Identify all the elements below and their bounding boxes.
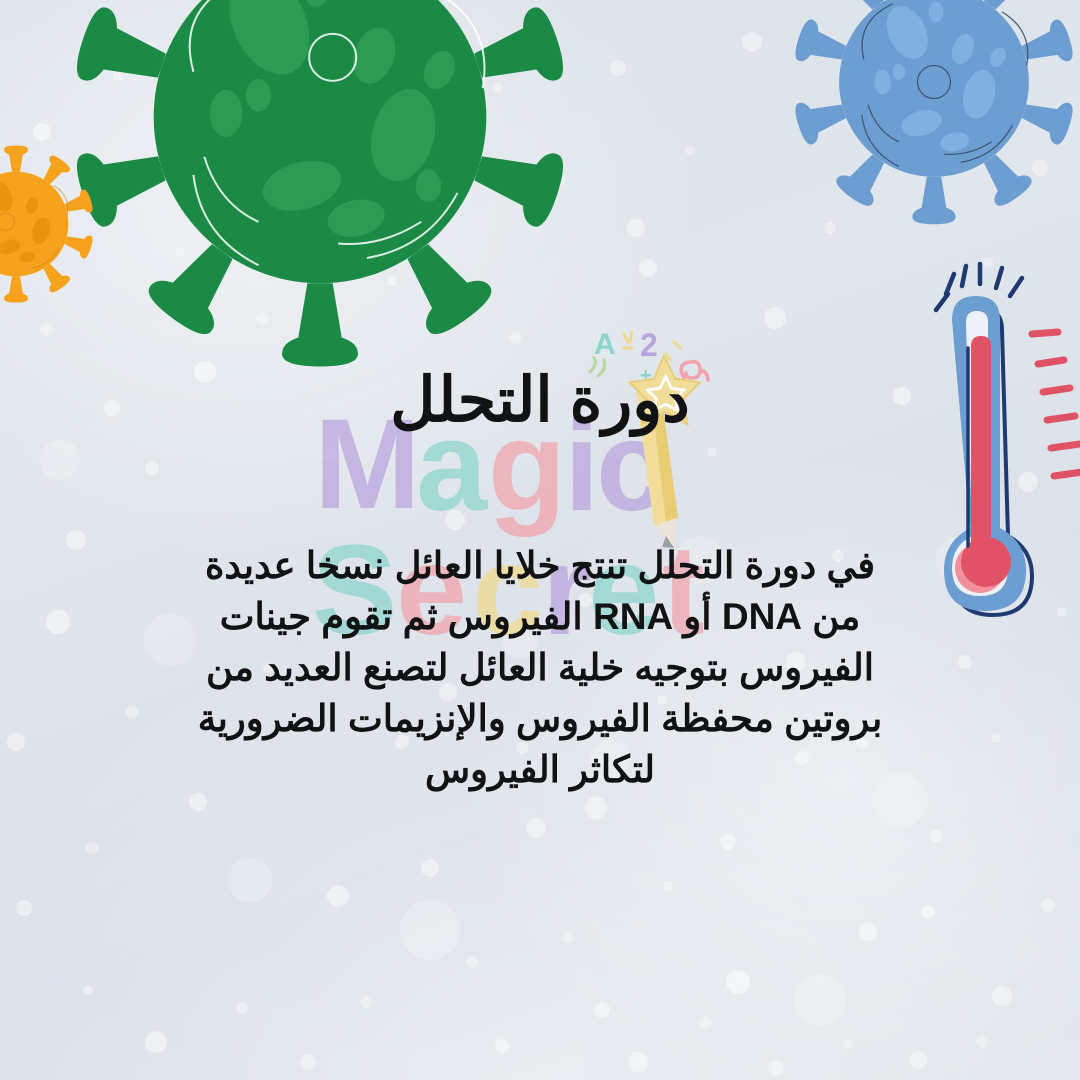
body-line-5: لتكاثر الفيروس bbox=[95, 744, 985, 795]
poster-canvas: M a g i c S e c r e t A 2 + bbox=[0, 0, 1080, 1080]
page-title: دورة التحلل bbox=[0, 368, 1080, 433]
body-paragraph: في دورة التحلل تنتج خلايا العائل نسخا عد… bbox=[95, 540, 985, 795]
virus-blue-icon bbox=[800, 0, 1068, 216]
body-line-4: بروتين محفظة الفيروس والإنزيمات الضرورية bbox=[95, 693, 985, 744]
virus-orange-icon bbox=[0, 150, 90, 298]
body-line-3: الفيروس بتوجيه خلية العائل لتصنع العديد … bbox=[95, 642, 985, 693]
virus-green-icon bbox=[85, 0, 555, 352]
body-line-2: من DNA أو RNA الفيروس ثم تقوم جينات bbox=[95, 591, 985, 642]
body-line-1: في دورة التحلل تنتج خلايا العائل نسخا عد… bbox=[95, 540, 985, 591]
